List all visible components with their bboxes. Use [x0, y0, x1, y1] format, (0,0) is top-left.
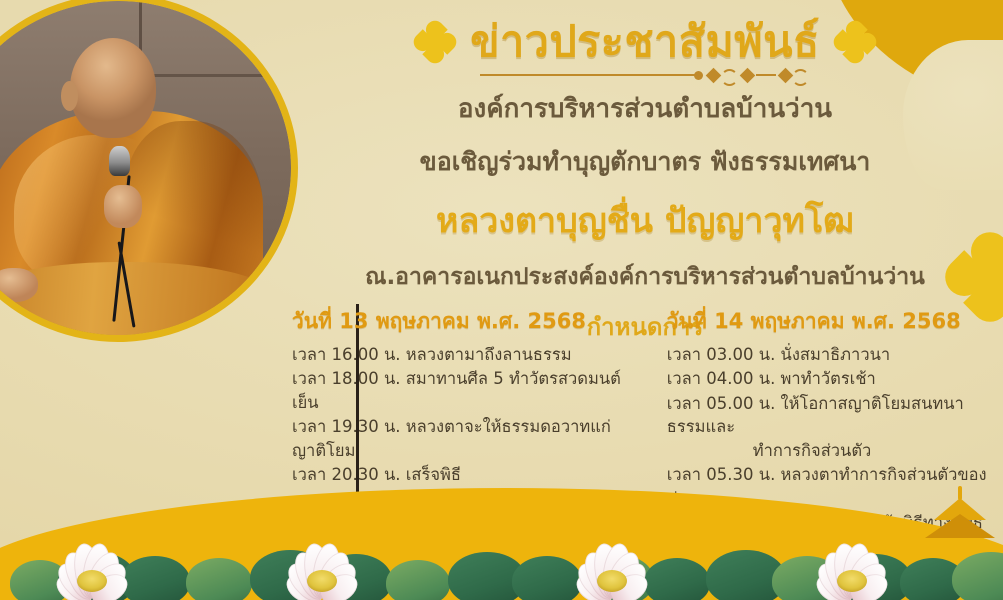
title-divider [480, 68, 810, 82]
schedule-column-day1: วันที่ 13 พฤษภาคม พ.ศ. 2568 เวลา 16.00 น… [292, 305, 645, 488]
lotus-decoration-row [0, 490, 1003, 600]
schedule-item: เวลา 19.30 น. หลวงตาจะให้ธรรมดอวาทแก่ญาต… [292, 415, 627, 462]
lotus-leaf-icon [952, 552, 1003, 600]
monk-portrait [0, 0, 298, 342]
venue-text: ณ.อาคารอเนกประสงค์องค์การบริหารส่วนตำบลบ… [300, 259, 990, 295]
schedule-item: เวลา 18.00 น. สมาทานศีล 5 ทำวัตรสวดมนต์เ… [292, 367, 627, 414]
schedule-item: เวลา 20.30 น. เสร็จพิธี [292, 463, 627, 486]
lotus-leaf-icon [386, 560, 450, 600]
schedule-items: เวลา 16.00 น. หลวงตามาถึงลานธรรมเวลา 18.… [292, 343, 627, 487]
lotus-leaf-icon [186, 558, 252, 600]
title-row: ข่าวประชาสัมพันธ์ [300, 18, 990, 66]
lotus-flower-icon [560, 526, 664, 600]
schedule-item: เวลา 04.00 น. พาทำวัตรเช้า [667, 367, 992, 390]
flower-ornament-icon [838, 25, 872, 59]
schedule-item: เวลา 05.00 น. ให้โอกาสญาติโยมสนทนาธรรมแล… [667, 392, 992, 462]
lotus-flower-icon [40, 526, 144, 600]
invitation-text: ขอเชิญร่วมทำบุญตักบาตร ฟังธรรมเทศนา [300, 142, 990, 182]
schedule-item: เวลา 03.00 น. นั่งสมาธิภาวนา [667, 343, 992, 366]
lotus-flower-icon [800, 526, 904, 600]
header-block: ข่าวประชาสัมพันธ์ องค์การบริหารส่วนตำบลบ… [300, 18, 990, 346]
organization-name: องค์การบริหารส่วนตำบลบ้านว่าน [300, 88, 990, 129]
schedule-item-continuation: ทำการกิจส่วนตัว [667, 439, 992, 462]
monk-name: หลวงตาบุญชื่น ปัญญาวุทโฒ [300, 193, 990, 247]
schedule-item: เวลา 16.00 น. หลวงตามาถึงลานธรรม [292, 343, 627, 366]
date-heading: วันที่ 13 พฤษภาคม พ.ศ. 2568 [292, 305, 627, 338]
poster-canvas: ข่าวประชาสัมพันธ์ องค์การบริหารส่วนตำบลบ… [0, 0, 1003, 600]
flower-ornament-icon [418, 25, 452, 59]
lotus-flower-icon [270, 526, 374, 600]
page-title: ข่าวประชาสัมพันธ์ [470, 18, 820, 66]
thai-temple-roof-icon [923, 490, 997, 548]
date-heading: วันที่ 14 พฤษภาคม พ.ศ. 2568 [667, 305, 992, 338]
